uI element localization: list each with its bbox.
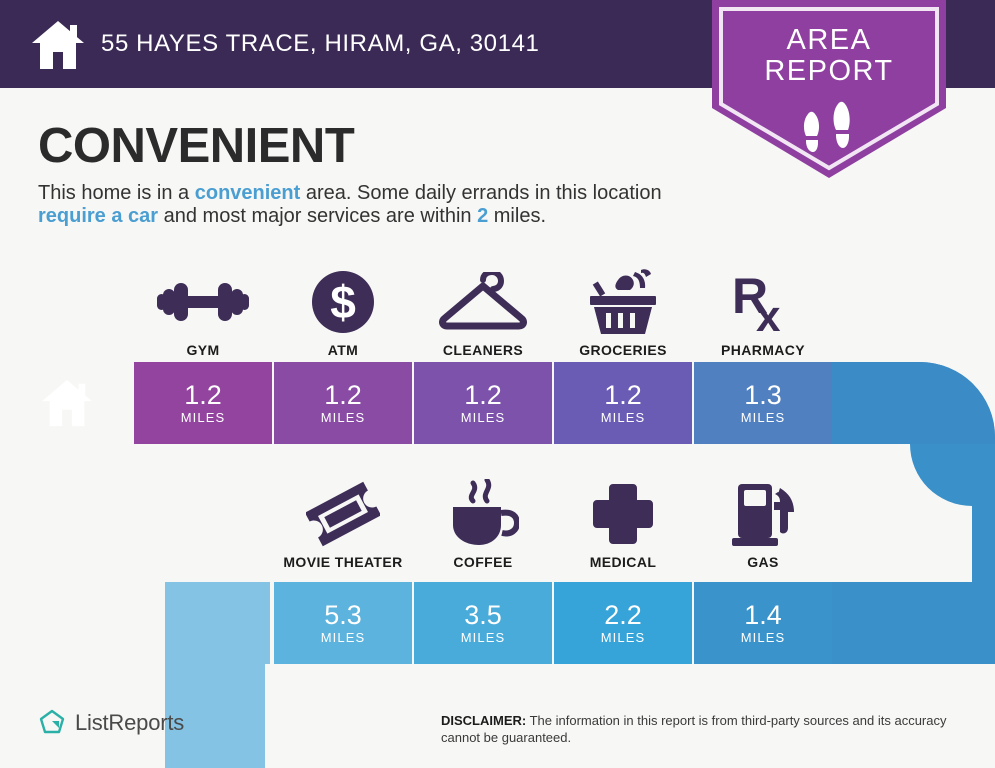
distance-unit-pharmacy: MILES — [741, 410, 786, 425]
listreports-logo-text: ListReports — [75, 710, 184, 736]
distance-unit-groceries: MILES — [601, 410, 646, 425]
distance-cell-coffee: 3.5 MILES — [414, 582, 552, 664]
summary-part-4: miles. — [488, 205, 546, 227]
summary-part-1: This home is in a — [38, 182, 195, 204]
distance-cell-gas: 1.4 MILES — [694, 582, 832, 664]
distance-ribbon: 1.2 MILES 1.2 MILES 1.2 MILES 1.2 MILES … — [0, 362, 995, 768]
svg-text:$: $ — [330, 276, 356, 328]
distance-value-atm: 1.2 — [324, 381, 362, 409]
icon-cell-gym: GYM — [134, 258, 272, 358]
distance-cell-groceries: 1.2 MILES — [554, 362, 692, 444]
icon-label-gym: GYM — [186, 342, 219, 358]
summary-highlight-3: 2 — [477, 205, 488, 227]
page-title: CONVENIENT — [38, 118, 354, 174]
summary-part-2: area. Some daily errands in this locatio… — [300, 182, 661, 204]
distance-unit-coffee: MILES — [461, 630, 506, 645]
distance-unit-cleaners: MILES — [461, 410, 506, 425]
distance-unit-gym: MILES — [181, 410, 226, 425]
listreports-tag-icon — [38, 709, 66, 737]
distance-value-pharmacy: 1.3 — [744, 381, 782, 409]
summary-text: This home is in a convenient area. Some … — [38, 182, 718, 228]
dumbbell-icon — [157, 266, 249, 338]
header-address: 55 HAYES TRACE, HIRAM, GA, 30141 — [101, 30, 539, 58]
dollar-circle-icon: $ — [312, 266, 374, 338]
grocery-basket-icon — [588, 266, 658, 338]
disclaimer: DISCLAIMER: The information in this repo… — [441, 712, 971, 746]
summary-highlight-1: convenient — [195, 182, 301, 204]
badge-line-2: REPORT — [712, 55, 946, 88]
svg-text:x: x — [756, 292, 781, 335]
icon-cell-groceries: GROCERIES — [554, 258, 692, 358]
distance-unit-medical: MILES — [601, 630, 646, 645]
badge-line-1: AREA — [712, 24, 946, 57]
distance-cell-cleaners: 1.2 MILES — [414, 362, 552, 444]
distance-value-gym: 1.2 — [184, 381, 222, 409]
distance-unit-atm: MILES — [321, 410, 366, 425]
distance-cell-pharmacy: 1.3 MILES — [694, 362, 832, 444]
area-report-page: 55 HAYES TRACE, HIRAM, GA, 30141 AREA RE… — [0, 0, 995, 768]
distance-cell-atm: 1.2 MILES — [274, 362, 412, 444]
home-icon — [39, 378, 95, 428]
distance-value-medical: 2.2 — [604, 601, 642, 629]
distance-value-gas: 1.4 — [744, 601, 782, 629]
area-report-badge: AREA REPORT — [712, 0, 946, 178]
home-icon — [30, 19, 86, 71]
footprints-icon — [800, 98, 860, 160]
hanger-icon — [437, 266, 529, 338]
distance-value-groceries: 1.2 — [604, 381, 642, 409]
distance-value-movie-theater: 5.3 — [324, 601, 362, 629]
distance-cell-gym: 1.2 MILES — [134, 362, 272, 444]
icon-label-pharmacy: PHARMACY — [721, 342, 805, 358]
distance-cell-movie-theater: 5.3 MILES — [274, 582, 412, 664]
origin-home-cell — [0, 362, 134, 444]
distance-unit-movie-theater: MILES — [321, 630, 366, 645]
icon-cell-cleaners: CLEANERS — [414, 258, 552, 358]
distance-value-cleaners: 1.2 — [464, 381, 502, 409]
rx-icon: R x — [728, 266, 798, 338]
icon-label-groceries: GROCERIES — [579, 342, 667, 358]
disclaimer-label: DISCLAIMER: — [441, 713, 526, 728]
summary-part-3: and most major services are within — [158, 205, 477, 227]
icon-cell-pharmacy: R x PHARMACY — [694, 258, 832, 358]
icon-cell-atm: $ ATM — [274, 258, 412, 358]
icon-row-1: GYM $ ATM CLEANERS — [134, 258, 834, 358]
icon-label-cleaners: CLEANERS — [443, 342, 523, 358]
summary-highlight-2: require a car — [38, 205, 158, 227]
distance-unit-gas: MILES — [741, 630, 786, 645]
icon-label-atm: ATM — [328, 342, 359, 358]
distance-value-coffee: 3.5 — [464, 601, 502, 629]
listreports-logo: ListReports — [38, 709, 184, 737]
distance-cell-medical: 2.2 MILES — [554, 582, 692, 664]
